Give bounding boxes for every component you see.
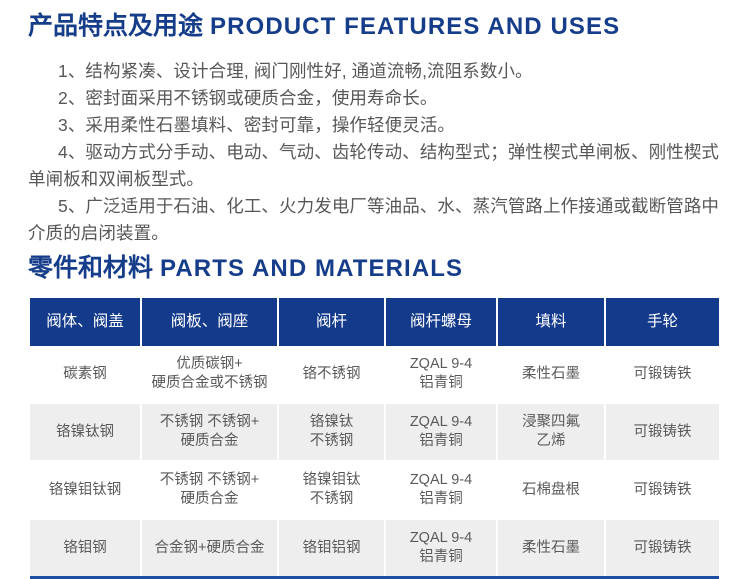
table-cell: ZQAL 9-4 铝青铜 <box>385 403 497 461</box>
table-cell: 可锻铸铁 <box>605 346 719 403</box>
column-header-valve-plate: 阀板、阀座 <box>141 298 278 346</box>
table-cell: 不锈钢 不锈钢+ 硬质合金 <box>141 461 278 519</box>
parts-heading-en: PARTS AND MATERIALS <box>160 255 463 282</box>
cell-text: ZQAL 9-4 铝青铜 <box>389 355 493 393</box>
features-section-heading: 产品特点及用途PRODUCT FEATURES AND USES <box>28 14 620 39</box>
table-cell: 铬钼钢 <box>30 519 141 578</box>
features-heading-cn: 产品特点及用途 <box>28 12 203 40</box>
cell-text: 铬镍钼钛 不锈钢 <box>282 471 381 509</box>
cell-text: 铬钼铝钢 <box>282 539 381 558</box>
table-cell: ZQAL 9-4 铝青铜 <box>385 519 497 578</box>
table-row: 碳素钢 优质碳钢+ 硬质合金或不锈钢 铬不锈钢 ZQAL 9-4 铝青铜 柔性石… <box>30 346 719 403</box>
parts-heading-cn: 零件和材料 <box>28 254 153 282</box>
feature-item-2: 2、密封面采用不锈钢或硬质合金，使用寿命长。 <box>28 85 728 112</box>
table-cell: 铬镍钼钛钢 <box>30 461 141 519</box>
feature-item-1: 1、结构紧凑、设计合理, 阀门刚性好, 通道流畅,流阻系数小。 <box>28 58 728 85</box>
cell-text: 可锻铸铁 <box>609 423 716 442</box>
cell-text: 不锈钢 不锈钢+ 硬质合金 <box>145 413 274 451</box>
table-row: 铬钼钢 合金钢+硬质合金 铬钼铝钢 ZQAL 9-4 铝青铜 柔性石墨 可锻铸铁 <box>30 519 719 578</box>
cell-text: 可锻铸铁 <box>609 539 716 558</box>
table-cell: 可锻铸铁 <box>605 519 719 578</box>
table-cell: 铬镍钛钢 <box>30 403 141 461</box>
column-header-handwheel: 手轮 <box>605 298 719 346</box>
cell-text: 可锻铸铁 <box>609 481 716 500</box>
table-cell: 铬镍钛 不锈钢 <box>278 403 385 461</box>
feature-item-5: 5、广泛适用于石油、化工、火力发电厂等油品、水、蒸汽管路上作接通或截断管路中介质… <box>28 193 728 247</box>
column-header-valve-body: 阀体、阀盖 <box>30 298 141 346</box>
table-cell: 合金钢+硬质合金 <box>141 519 278 578</box>
table-cell: 碳素钢 <box>30 346 141 403</box>
feature-item-3: 3、采用柔性石墨填料、密封可靠，操作轻便灵活。 <box>28 112 728 139</box>
cell-text: 铬镍钼钛钢 <box>33 481 137 500</box>
table-body: 碳素钢 优质碳钢+ 硬质合金或不锈钢 铬不锈钢 ZQAL 9-4 铝青铜 柔性石… <box>30 346 719 578</box>
cell-text: 碳素钢 <box>33 365 137 384</box>
cell-text: 柔性石墨 <box>501 539 601 558</box>
parts-materials-table: 阀体、阀盖 阀板、阀座 阀杆 阀杆螺母 填料 手轮 碳素钢 优质碳钢+ 硬质合金… <box>30 298 719 579</box>
cell-text: ZQAL 9-4 铝青铜 <box>389 413 493 451</box>
table-cell: ZQAL 9-4 铝青铜 <box>385 461 497 519</box>
table-cell: 铬钼铝钢 <box>278 519 385 578</box>
table-cell: 柔性石墨 <box>497 346 605 403</box>
table-row: 铬镍钛钢 不锈钢 不锈钢+ 硬质合金 铬镍钛 不锈钢 ZQAL 9-4 铝青铜 … <box>30 403 719 461</box>
table-cell: 优质碳钢+ 硬质合金或不锈钢 <box>141 346 278 403</box>
cell-text: ZQAL 9-4 铝青铜 <box>389 529 493 567</box>
cell-text: 石棉盘根 <box>501 481 601 500</box>
table-header: 阀体、阀盖 阀板、阀座 阀杆 阀杆螺母 填料 手轮 <box>30 298 719 346</box>
table-cell: 浸聚四氟 乙烯 <box>497 403 605 461</box>
table-row: 铬镍钼钛钢 不锈钢 不锈钢+ 硬质合金 铬镍钼钛 不锈钢 ZQAL 9-4 铝青… <box>30 461 719 519</box>
cell-text: 合金钢+硬质合金 <box>145 539 274 558</box>
table-cell: 柔性石墨 <box>497 519 605 578</box>
features-list: 1、结构紧凑、设计合理, 阀门刚性好, 通道流畅,流阻系数小。 2、密封面采用不… <box>28 58 728 247</box>
column-header-packing: 填料 <box>497 298 605 346</box>
cell-text: ZQAL 9-4 铝青铜 <box>389 471 493 509</box>
cell-text: 铬钼钢 <box>33 539 137 558</box>
table-cell: 不锈钢 不锈钢+ 硬质合金 <box>141 403 278 461</box>
cell-text: 柔性石墨 <box>501 365 601 384</box>
table-cell: 可锻铸铁 <box>605 461 719 519</box>
column-header-valve-stem: 阀杆 <box>278 298 385 346</box>
cell-text: 优质碳钢+ 硬质合金或不锈钢 <box>145 355 274 393</box>
cell-text: 铬镍钛 不锈钢 <box>282 413 381 451</box>
table-cell: 铬不锈钢 <box>278 346 385 403</box>
cell-text: 不锈钢 不锈钢+ 硬质合金 <box>145 471 274 509</box>
parts-section-heading: 零件和材料PARTS AND MATERIALS <box>28 256 463 281</box>
table-header-row: 阀体、阀盖 阀板、阀座 阀杆 阀杆螺母 填料 手轮 <box>30 298 719 346</box>
cell-text: 可锻铸铁 <box>609 365 716 384</box>
cell-text: 铬镍钛钢 <box>33 423 137 442</box>
cell-text: 浸聚四氟 乙烯 <box>501 413 601 451</box>
column-header-stem-nut: 阀杆螺母 <box>385 298 497 346</box>
table-cell: 可锻铸铁 <box>605 403 719 461</box>
table-cell: 石棉盘根 <box>497 461 605 519</box>
feature-item-4: 4、驱动方式分手动、电动、气动、齿轮传动、结构型式；弹性楔式单闸板、刚性楔式单闸… <box>28 139 728 193</box>
product-spec-page: 产品特点及用途PRODUCT FEATURES AND USES 1、结构紧凑、… <box>0 0 751 573</box>
table-cell: 铬镍钼钛 不锈钢 <box>278 461 385 519</box>
table-cell: ZQAL 9-4 铝青铜 <box>385 346 497 403</box>
cell-text: 铬不锈钢 <box>282 365 381 384</box>
features-heading-en: PRODUCT FEATURES AND USES <box>210 13 620 40</box>
